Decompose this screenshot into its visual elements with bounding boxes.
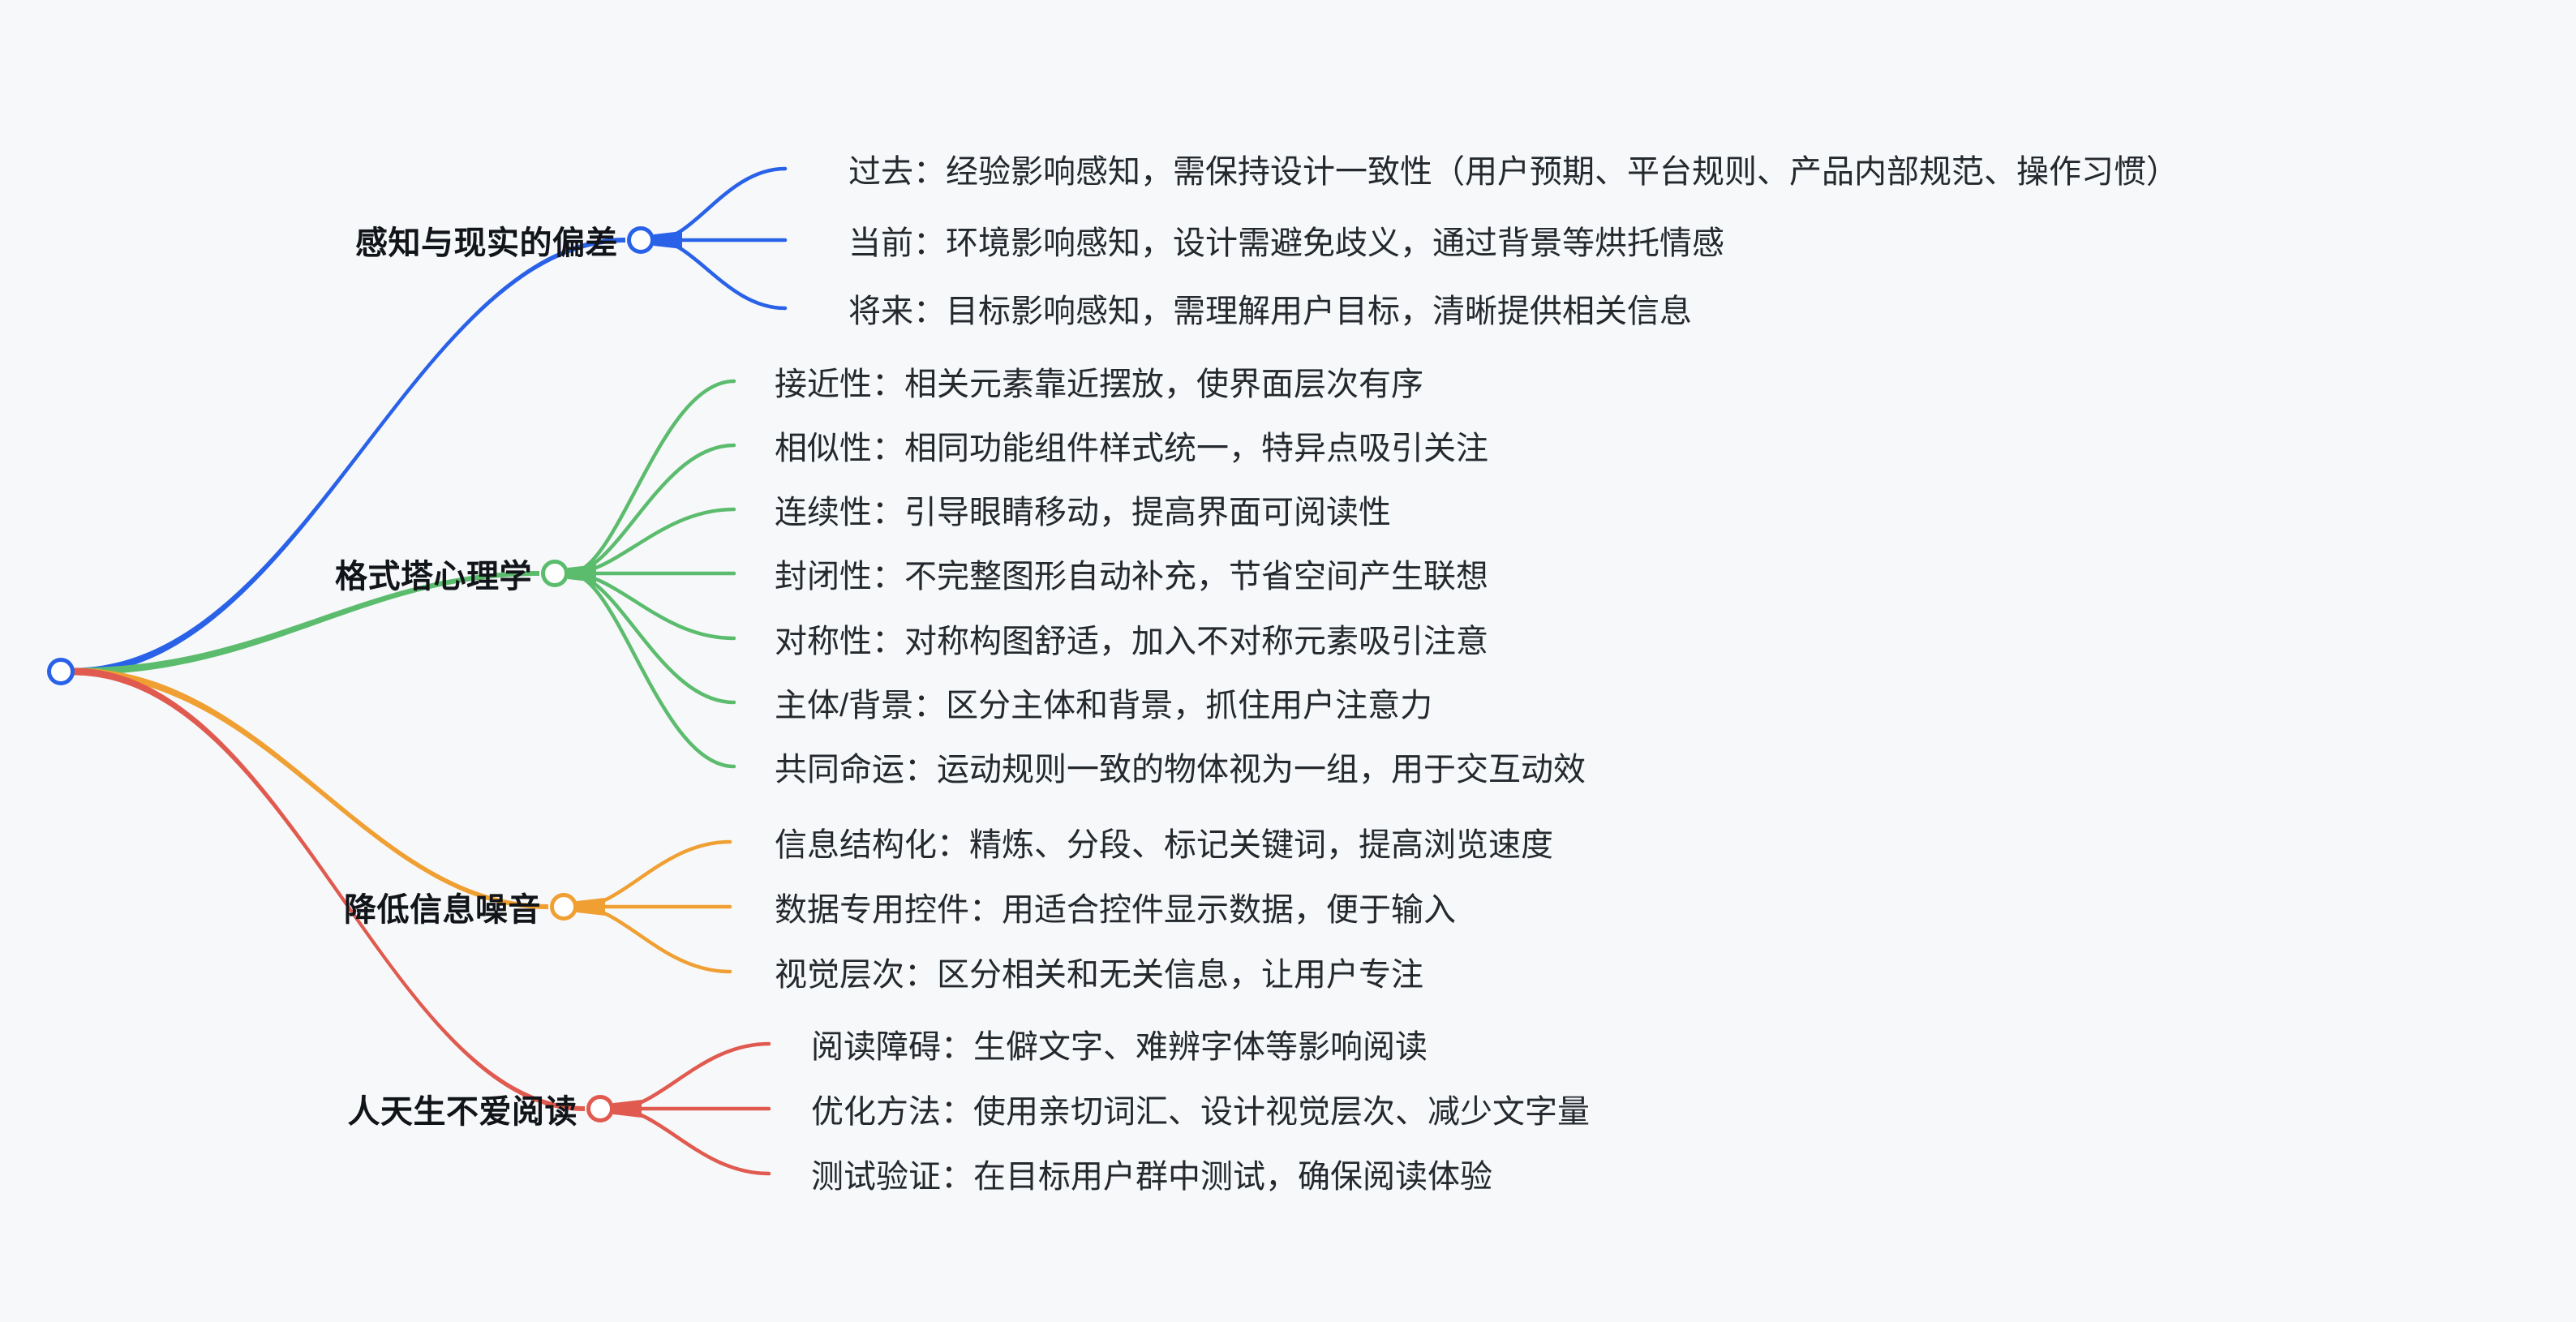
leaf-label-reduce-information-noise-2[interactable]: 视觉层次：区分相关和无关信息，让用户专注 xyxy=(775,948,1423,995)
leaf-connector-gestalt-psychology-1 xyxy=(569,445,734,573)
leaf-connector-reduce-information-noise-2 xyxy=(578,907,730,972)
leaf-connector-perception-reality-gap-0 xyxy=(655,169,785,240)
leaf-label-perception-reality-gap-2[interactable]: 将来：目标影响感知，需理解用户目标，清晰提供相关信息 xyxy=(848,285,1692,332)
leaf-connector-reduce-information-noise-0 xyxy=(578,842,730,907)
branch-node-perception-reality-gap[interactable] xyxy=(627,226,655,254)
leaf-connector-perception-reality-gap-2 xyxy=(655,240,785,308)
leaf-label-people-dislike-reading-2[interactable]: 测试验证：在目标用户群中测试，确保阅读体验 xyxy=(811,1150,1492,1197)
leaf-label-reduce-information-noise-0[interactable]: 信息结构化：精炼、分段、标记关键词，提高浏览速度 xyxy=(775,818,1553,865)
leaf-connector-people-dislike-reading-2 xyxy=(615,1109,769,1174)
leaf-label-gestalt-psychology-2[interactable]: 连续性：引导眼睛移动，提高界面可阅读性 xyxy=(775,486,1391,533)
leaf-label-gestalt-psychology-3[interactable]: 封闭性：不完整图形自动补充，节省空间产生联想 xyxy=(775,550,1488,597)
branch-wedge-perception-reality-gap xyxy=(654,231,682,249)
mindmap-canvas: 感知与现实的偏差过去：经验影响感知，需保持设计一致性（用户预期、平台规则、产品内… xyxy=(0,0,2576,1322)
leaf-label-gestalt-psychology-5[interactable]: 主体/背景：区分主体和背景，抓住用户注意力 xyxy=(775,679,1432,726)
branch-label-gestalt-psychology[interactable]: 格式塔心理学 xyxy=(335,550,532,597)
leaf-label-perception-reality-gap-0[interactable]: 过去：经验影响感知，需保持设计一致性（用户预期、平台规则、产品内部规范、操作习惯… xyxy=(848,145,2179,192)
branch-trunk-reduce-information-noise xyxy=(73,668,548,910)
branch-node-people-dislike-reading[interactable] xyxy=(586,1095,614,1122)
leaf-label-reduce-information-noise-1[interactable]: 数据专用控件：用适合控件显示数据，便于输入 xyxy=(775,883,1456,930)
leaf-label-people-dislike-reading-1[interactable]: 优化方法：使用亲切词汇、设计视觉层次、减少文字量 xyxy=(811,1085,1590,1132)
root-node[interactable] xyxy=(47,658,75,685)
branch-label-perception-reality-gap[interactable]: 感知与现实的偏差 xyxy=(355,217,618,264)
leaf-connector-people-dislike-reading-0 xyxy=(615,1044,769,1109)
leaf-label-gestalt-psychology-0[interactable]: 接近性：相关元素靠近摆放，使界面层次有序 xyxy=(775,358,1423,405)
leaf-connector-gestalt-psychology-0 xyxy=(569,381,734,573)
branch-node-reduce-information-noise[interactable] xyxy=(550,893,577,921)
branch-label-people-dislike-reading[interactable]: 人天生不爱阅读 xyxy=(348,1085,578,1132)
branch-node-gestalt-psychology[interactable] xyxy=(541,560,569,587)
branch-wedge-gestalt-psychology xyxy=(568,564,596,582)
leaf-label-gestalt-psychology-6[interactable]: 共同命运：运动规则一致的物体视为一组，用于交互动效 xyxy=(775,743,1586,790)
leaf-connector-gestalt-psychology-6 xyxy=(569,573,734,766)
branch-label-reduce-information-noise[interactable]: 降低信息噪音 xyxy=(344,883,541,930)
leaf-label-perception-reality-gap-1[interactable]: 当前：环境影响感知，设计需避免歧义，通过背景等烘托情感 xyxy=(848,217,1724,264)
leaf-label-gestalt-psychology-4[interactable]: 对称性：对称构图舒适，加入不对称元素吸引注意 xyxy=(775,615,1488,662)
branch-wedge-people-dislike-reading xyxy=(613,1100,642,1118)
branch-wedge-reduce-information-noise xyxy=(577,898,605,916)
leaf-label-gestalt-psychology-1[interactable]: 相似性：相同功能组件样式统一，特异点吸引关注 xyxy=(775,422,1488,469)
leaf-connector-gestalt-psychology-5 xyxy=(569,573,734,702)
leaf-label-people-dislike-reading-0[interactable]: 阅读障碍：生僻文字、难辨字体等影响阅读 xyxy=(811,1020,1428,1067)
